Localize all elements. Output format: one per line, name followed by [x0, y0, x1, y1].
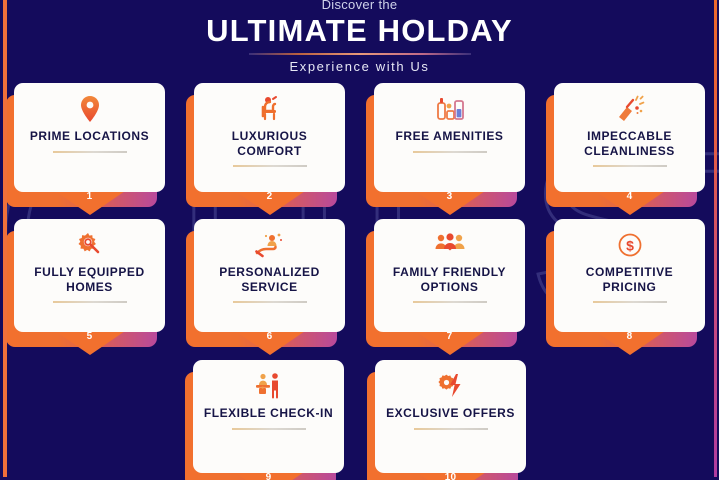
card-title: IMPECCABLE CLEANLINESS [554, 129, 705, 158]
card-divider [53, 301, 127, 303]
card-number: 2 [232, 191, 308, 202]
feature-card-3[interactable]: 3 FREE AMENITIES [374, 83, 525, 200]
card-body[interactable]: EXCLUSIVE OFFERS [375, 360, 526, 473]
family-group-icon [433, 230, 467, 260]
header: Discover the ULTIMATE HOLDAY Experience … [0, 0, 719, 76]
card-title: LUXURIOUS COMFORT [194, 129, 345, 158]
card-number-tab: 5 [52, 329, 128, 355]
card-number: 10 [413, 472, 489, 480]
card-number-tab: 7 [412, 329, 488, 355]
card-divider [53, 151, 127, 153]
card-number: 1 [52, 191, 128, 202]
card-number: 7 [412, 331, 488, 342]
left-edge-accent-bar [3, 0, 7, 477]
card-title: PERSONALIZED SERVICE [194, 265, 345, 294]
card-body[interactable]: PERSONALIZED SERVICE [194, 219, 345, 332]
card-body[interactable]: IMPECCABLE CLEANLINESS [554, 83, 705, 192]
card-divider [233, 301, 307, 303]
header-kicker: Discover the [0, 0, 719, 13]
card-body[interactable]: FREE AMENITIES [374, 83, 525, 192]
feature-card-1[interactable]: 1 PRIME LOCATIONS [14, 83, 165, 200]
svg-text:$: $ [626, 238, 634, 254]
feature-card-8[interactable]: 8 $ COMPETITIVE PRICING [554, 219, 705, 341]
card-number: 5 [52, 331, 128, 342]
card-number-tab: 8 [592, 329, 668, 355]
broom-sparkle-icon [613, 94, 647, 124]
card-divider [593, 301, 667, 303]
card-number: 6 [232, 331, 308, 342]
feature-card-6[interactable]: 6 PERSONALIZED SERVICE [194, 219, 345, 341]
card-title: PRIME LOCATIONS [25, 129, 154, 144]
feature-card-2[interactable]: 2 LUXURIOUS COMFORT [194, 83, 345, 200]
card-number-tab: 1 [52, 189, 128, 215]
page-title: ULTIMATE HOLDAY [0, 15, 719, 47]
discount-bolt-icon [434, 371, 468, 401]
toiletries-icon [433, 94, 467, 124]
card-number: 3 [412, 191, 488, 202]
card-body[interactable]: FULLY EQUIPPED HOMES [14, 219, 165, 332]
reception-desk-icon [252, 371, 286, 401]
card-divider [414, 428, 488, 430]
card-divider [233, 165, 307, 167]
card-body[interactable]: PRIME LOCATIONS [14, 83, 165, 192]
card-divider [413, 301, 487, 303]
card-number-tab: 2 [232, 189, 308, 215]
armchair-person-icon [253, 94, 287, 124]
card-body[interactable]: FLEXIBLE CHECK-IN [193, 360, 344, 473]
card-divider [593, 165, 667, 167]
card-number: 9 [231, 472, 307, 480]
gear-wrench-icon [73, 230, 107, 260]
card-number: 4 [592, 191, 668, 202]
card-body[interactable]: LUXURIOUS COMFORT [194, 83, 345, 192]
card-number: 8 [592, 331, 668, 342]
card-title: FREE AMENITIES [391, 129, 509, 144]
hand-person-icon [253, 230, 287, 260]
card-row-2: 5 FULLY EQUIPPED HOMES [14, 219, 705, 341]
dollar-coin-icon: $ [613, 230, 647, 260]
card-number-tab: 3 [412, 189, 488, 215]
card-body[interactable]: $ COMPETITIVE PRICING [554, 219, 705, 332]
feature-card-5[interactable]: 5 FULLY EQUIPPED HOMES [14, 219, 165, 341]
card-divider [413, 151, 487, 153]
map-pin-icon [73, 94, 107, 124]
card-row-3: 9 FLEXIBLE CHECK-IN [14, 360, 705, 480]
card-title: EXCLUSIVE OFFERS [381, 406, 520, 421]
card-body[interactable]: FAMILY FRIENDLY OPTIONS [374, 219, 525, 332]
card-divider [232, 428, 306, 430]
card-number-tab: 4 [592, 189, 668, 215]
feature-card-4[interactable]: 4 IMPECCABLE CLEANLINESS [554, 83, 705, 200]
feature-card-7[interactable]: 7 FAMILY FRIENDLY OPTIONS [374, 219, 525, 341]
card-title: FLEXIBLE CHECK-IN [199, 406, 338, 421]
card-row-1: 1 PRIME LOCATIONS [14, 83, 705, 200]
title-divider [249, 53, 471, 55]
feature-card-9[interactable]: 9 FLEXIBLE CHECK-IN [193, 360, 344, 480]
card-title: COMPETITIVE PRICING [554, 265, 705, 294]
right-edge-accent-bar [714, 0, 717, 477]
card-title: FAMILY FRIENDLY OPTIONS [374, 265, 525, 294]
card-number-tab: 6 [232, 329, 308, 355]
card-title: FULLY EQUIPPED HOMES [14, 265, 165, 294]
header-subtitle: Experience with Us [0, 58, 719, 76]
feature-card-grid: 1 PRIME LOCATIONS [0, 83, 719, 480]
feature-card-10[interactable]: 10 EXCLUSIVE OFFERS [375, 360, 526, 480]
